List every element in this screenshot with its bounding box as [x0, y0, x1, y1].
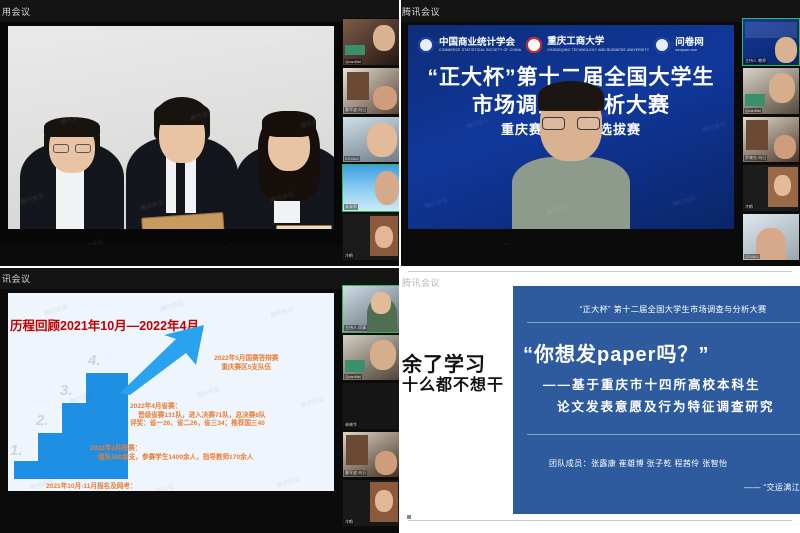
- step-number-3: 3.: [60, 382, 73, 399]
- participant-name: Quanlifal: [344, 59, 362, 64]
- meeting-window-1: 用会议: [0, 0, 400, 267]
- cover-subtitle-1: ——基于重庆市十四所高校本科生: [543, 374, 761, 393]
- participant-name: Quanlifal: [744, 108, 762, 113]
- participant-thumb[interactable]: 冷鹤: [742, 164, 800, 212]
- participant-name: 主持人 同事: [344, 325, 367, 331]
- participant-thumb-active[interactable]: 青青草: [342, 164, 400, 212]
- annotation-step-4: 2022年5月国赛答辩赛 重庆赛区5支队伍: [214, 355, 279, 372]
- participant-thumb-active[interactable]: 主持人 教师: [742, 18, 800, 66]
- team-label: 团队成员：: [549, 459, 591, 468]
- annotation-step-3: 2022年4月省赛： 晋级省赛131队，进入决赛71队，总决赛8队 评奖：省一2…: [130, 403, 266, 429]
- participant-name: 曹军波 向日: [344, 470, 367, 476]
- participant-thumb[interactable]: 冷鹤: [342, 479, 400, 527]
- participant-thumb[interactable]: 罗晓光 向日: [742, 116, 800, 164]
- window-titlebar-2: 腾讯会议: [400, 0, 800, 22]
- participant-name: 罗晓光 向日: [744, 155, 767, 161]
- participant-name: 冷鹤: [344, 519, 354, 525]
- org3-en: wenjuan.com: [675, 48, 704, 52]
- participant-name: 曹军波 向日: [344, 107, 367, 113]
- annotation-step-2: 2022年3月校赛： 组队300余支，参赛学生1400余人，指导教师170余人: [90, 445, 253, 462]
- cover-header: “正大杯” 第十二届全国大学生市场调查与分析大赛: [513, 303, 800, 315]
- speaker-video: 中国商业统计学会 COMMERCE STATISTICAL SOCIETY OF…: [408, 25, 734, 229]
- main-video-stage-2[interactable]: 中国商业统计学会 COMMERCE STATISTICAL SOCIETY OF…: [400, 22, 742, 245]
- cover-divider-top: [527, 322, 800, 323]
- participant-name: Quanlifal: [344, 374, 362, 379]
- panel-speaker: 腾讯会议 中国商业统计学会 COMMERCE STATISTICAL SOCIE…: [400, 0, 800, 267]
- panel-cover-slide: 腾讯会议 余了学习 十么都不想干 “正大杯” 第十二届全国大学生市场调查与分析大…: [400, 267, 800, 533]
- participant-strip-1[interactable]: Quanlifal 曹军波 向日 2204A2 青青草: [342, 18, 400, 261]
- cover-divider-bottom: [527, 434, 800, 435]
- meeting-window-3: 讯会议 历程回顾2021年10月—2022年4月 1. 2. 3. 4.: [0, 267, 400, 533]
- page-bottom-rule: [408, 520, 792, 521]
- page-marker-icon: [407, 515, 411, 519]
- glasses-icon: [542, 117, 600, 130]
- panel-students: 用会议: [0, 0, 400, 267]
- meeting-window-2: 腾讯会议 中国商业统计学会 COMMERCE STATISTICAL SOCIE…: [400, 0, 800, 267]
- step-number-2: 2.: [36, 412, 49, 429]
- main-video-stage-1[interactable]: 腾讯会议腾讯会议 腾讯会议腾讯会议 腾讯会议腾讯会议 腾讯会议腾讯会议 腾讯会议…: [0, 22, 342, 245]
- step-number-4: 4.: [88, 352, 101, 369]
- sponsor-banner: 中国商业统计学会 COMMERCE STATISTICAL SOCIETY OF…: [418, 34, 726, 56]
- cover-team-signature: —— “交运满江红” 团队: [744, 482, 800, 493]
- participant-strip-3[interactable]: 主持人 同事 Quanlifal 林晓华 曹军波 向日: [342, 285, 400, 527]
- student-left: [20, 81, 124, 229]
- collage-horizontal-seam: [0, 266, 800, 268]
- wenjuan-logo-icon: [654, 37, 670, 53]
- headline-line-2: 十么都不想干: [402, 377, 504, 394]
- annotation-step-1: 2021年10月-11月报名及网考： 16所高校，3487人报名；3095人通过…: [46, 483, 216, 491]
- university-logo-icon: [526, 37, 542, 53]
- page-top-rule: [408, 271, 792, 272]
- cover-team-members: 团队成员：张露康 崔雄博 张子乾 程茜伶 张智怡: [549, 458, 728, 469]
- team-names: 张露康 崔雄博 张子乾 程茜伶 张智怡: [591, 459, 728, 468]
- participant-strip-2[interactable]: 主持人 教师 Quanlifal 罗晓光 向日 冷鹤: [742, 18, 800, 261]
- participant-name: 主持人 教师: [744, 58, 767, 64]
- window-titlebar-3: 讯会议: [0, 267, 400, 289]
- participant-name: 林晓华: [344, 422, 358, 428]
- student-right: [236, 79, 334, 229]
- org2-en: CHONGQING TECHNOLOGY AND BUSINESS UNIVER…: [547, 48, 649, 52]
- participant-name: 冷鹤: [344, 253, 354, 259]
- society-logo-icon: [418, 37, 434, 53]
- growth-arrow-icon: [118, 325, 206, 395]
- participant-name: 2204A2: [744, 254, 760, 259]
- cover-title: “你想发paper吗？”: [523, 338, 709, 367]
- participant-thumb[interactable]: 曹军波 向日: [342, 67, 400, 115]
- student-center: [126, 61, 238, 229]
- student-group-video: [8, 26, 334, 229]
- participant-name: 青青草: [344, 204, 358, 210]
- org1-en: COMMERCE STATISTICAL SOCIETY OF CHINA: [439, 48, 521, 52]
- org1-cn: 中国商业统计学会: [439, 38, 521, 48]
- participant-thumb[interactable]: Quanlifal: [342, 334, 400, 382]
- window-titlebar-1: 用会议: [0, 0, 400, 22]
- presentation-cover-slide[interactable]: “正大杯” 第十二届全国大学生市场调查与分析大赛 “你想发paper吗？” ——…: [513, 286, 800, 514]
- participant-thumb[interactable]: Quanlifal: [342, 18, 400, 66]
- screenshot-collage: 用会议: [0, 0, 800, 533]
- participant-name: 冷鹤: [744, 204, 754, 210]
- timeline-chart-slide: 历程回顾2021年10月—2022年4月 1. 2. 3. 4.: [8, 293, 334, 491]
- participant-thumb[interactable]: 曹军波 向日: [342, 431, 400, 479]
- participant-name: 2204A2: [344, 156, 360, 161]
- document-page: 腾讯会议 余了学习 十么都不想干 “正大杯” 第十二届全国大学生市场调查与分析大…: [400, 267, 800, 533]
- shared-screen-stage[interactable]: 历程回顾2021年10月—2022年4月 1. 2. 3. 4.: [0, 289, 342, 511]
- document-headline: 余了学习 十么都不想干: [402, 355, 504, 394]
- participant-thumb-active[interactable]: 主持人 同事: [342, 285, 400, 333]
- org2-cn: 重庆工商大学: [547, 38, 649, 48]
- headline-line-1: 余了学习: [402, 355, 504, 377]
- speaker-figure: [512, 79, 630, 229]
- step-number-1: 1.: [10, 442, 23, 459]
- panel-timeline-slide: 讯会议 历程回顾2021年10月—2022年4月 1. 2. 3. 4.: [0, 267, 400, 533]
- participant-thumb[interactable]: 林晓华: [342, 382, 400, 430]
- cover-subtitle-2: 论文发表意愿及行为特征调查研究: [557, 396, 775, 415]
- participant-thumb[interactable]: Quanlifal: [742, 67, 800, 115]
- participant-thumb[interactable]: 2204A2: [742, 213, 800, 261]
- participant-thumb[interactable]: 冷鹤: [342, 213, 400, 261]
- org3-cn: 问卷网: [675, 38, 704, 48]
- participant-thumb[interactable]: 2204A2: [342, 116, 400, 164]
